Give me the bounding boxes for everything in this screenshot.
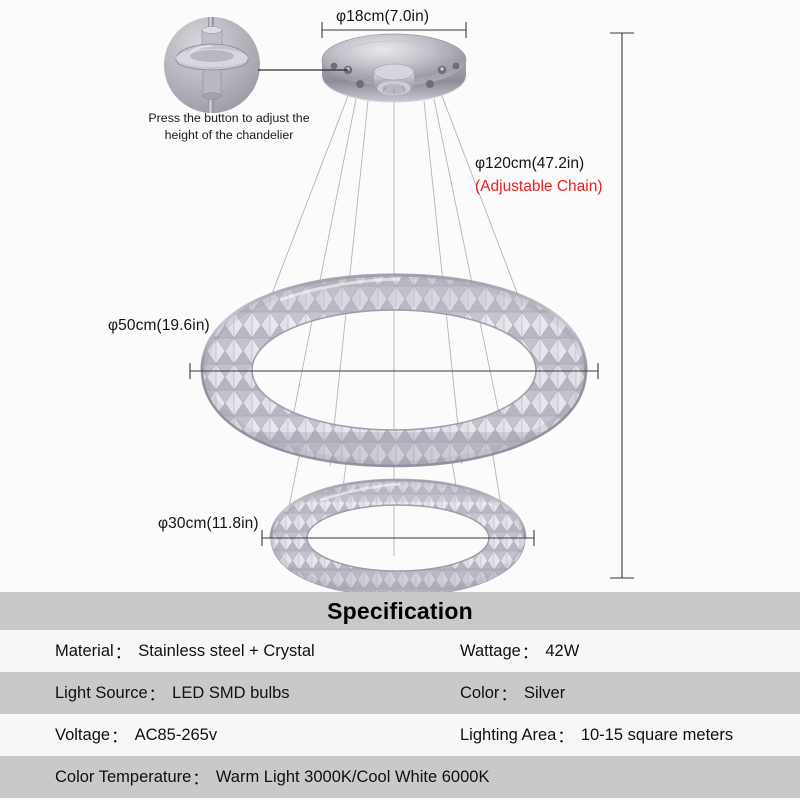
spec-key: Wattage <box>460 642 521 661</box>
spec-colon: ： <box>114 639 134 663</box>
small-crystal-ring <box>269 478 527 592</box>
led-module <box>374 64 414 95</box>
big-ring-dimension-label: φ50cm(19.6in) <box>108 317 210 335</box>
table-row: Voltage ： AC85-265v Lighting Area ： 10-1… <box>0 714 800 756</box>
spec-cell-lighting-area: Lighting Area ： 10-15 square meters <box>450 723 800 747</box>
spec-cell-wattage: Wattage ： 42W <box>450 639 800 663</box>
spec-value: Warm Light 3000K/Cool White 6000K <box>211 768 490 787</box>
table-row: Material ： Stainless steel + Crystal Wat… <box>0 630 800 672</box>
table-row: Color Temperature ： Warm Light 3000K/Coo… <box>0 756 800 798</box>
spec-value: 42W <box>540 642 579 661</box>
small-ring-dimension-label: φ30cm(11.8in) <box>158 515 259 533</box>
chain-adjustable-note: (Adjustable Chain) <box>475 175 603 198</box>
spec-cell-color: Color ： Silver <box>450 681 800 705</box>
spec-key: Color <box>460 684 499 703</box>
caption-line-1: Press the button to adjust the <box>124 110 334 127</box>
spec-cell-color-temperature: Color Temperature ： Warm Light 3000K/Coo… <box>0 765 489 789</box>
spec-value: Stainless steel + Crystal <box>133 642 315 661</box>
spec-cell-voltage: Voltage ： AC85-265v <box>0 723 450 747</box>
spec-cell-material: Material ： Stainless steel + Crystal <box>0 639 450 663</box>
spec-cell-light-source: Light Source ： LED SMD bulbs <box>0 681 450 705</box>
caption-line-2: height of the chandelier <box>124 127 334 144</box>
spec-colon: ： <box>556 723 576 747</box>
spec-value: AC85-265v <box>130 726 218 745</box>
spec-value: LED SMD bulbs <box>167 684 289 703</box>
spec-key: Material <box>55 642 114 661</box>
spec-colon: ： <box>499 681 519 705</box>
chain-dimension-line <box>610 33 634 578</box>
chandelier-diagram-svg <box>0 0 800 592</box>
spec-key: Light Source <box>55 684 148 703</box>
spec-value: Silver <box>519 684 565 703</box>
spec-value: 10-15 square meters <box>576 726 733 745</box>
product-illustration: φ18cm(7.0in) φ50cm(19.6in) φ30cm(11.8in)… <box>0 0 800 592</box>
spec-colon: ： <box>148 681 168 705</box>
height-adjust-detail-callout <box>164 17 260 113</box>
height-adjust-caption: Press the button to adjust the height of… <box>124 110 334 144</box>
table-row: Light Source ： LED SMD bulbs Color ： Sil… <box>0 672 800 714</box>
chain-dimension-label-group: φ120cm(47.2in) (Adjustable Chain) <box>475 152 603 198</box>
spec-colon: ： <box>521 639 541 663</box>
product-spec-page: φ18cm(7.0in) φ50cm(19.6in) φ30cm(11.8in)… <box>0 0 800 800</box>
spec-key: Color Temperature <box>55 768 191 787</box>
specification-table: Specification Material ： Stainless steel… <box>0 592 800 798</box>
specification-title: Specification <box>0 592 800 630</box>
ceiling-canopy <box>322 34 466 102</box>
spec-colon: ： <box>191 765 211 789</box>
chain-dimension-label: φ120cm(47.2in) <box>475 152 603 175</box>
spec-colon: ： <box>110 723 130 747</box>
spec-key: Lighting Area <box>460 726 556 745</box>
canopy-dimension-label: φ18cm(7.0in) <box>336 8 429 26</box>
spec-key: Voltage <box>55 726 110 745</box>
